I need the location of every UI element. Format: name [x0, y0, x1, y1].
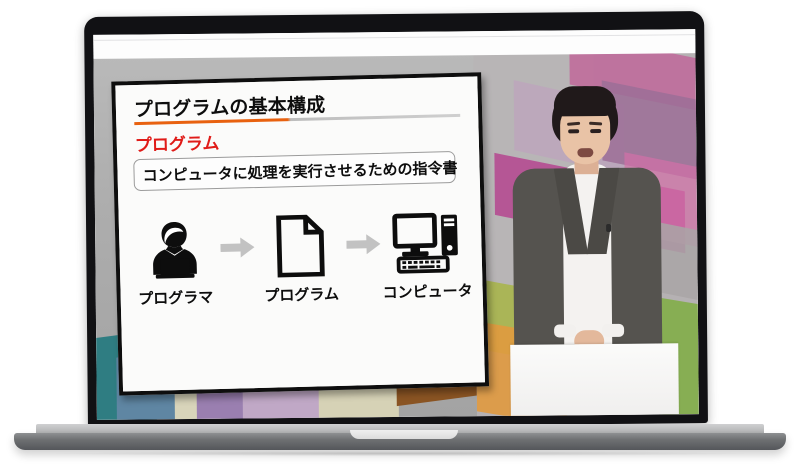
presenter-cuff-right	[602, 324, 624, 337]
laptop-base-shadow	[54, 451, 746, 456]
flow-node-programmer: プログラマ	[131, 211, 219, 309]
presenter-eye-left	[568, 129, 579, 133]
document-icon	[275, 208, 327, 283]
laptop-base-notch	[350, 430, 458, 439]
desktop-computer-icon	[391, 205, 461, 281]
programmer-icon	[143, 211, 207, 287]
presenter-stage	[473, 51, 698, 416]
flow-node-program: プログラム	[257, 208, 345, 306]
presenter-hair-fringe	[554, 86, 616, 117]
flow-label-programmer: プログラマ	[138, 286, 214, 309]
laptop-device: プログラムの基本構成 プログラム コンピュータに処理を実行させるための指令書	[0, 0, 800, 473]
definition-box: コンピュータに処理を実行させるための指令書	[133, 151, 456, 191]
flow-label-program: プログラム	[264, 283, 339, 306]
flow-label-computer: コンピュータ	[382, 280, 473, 303]
right-arrow-icon	[346, 234, 380, 255]
slide-panel: プログラムの基本構成 プログラム コンピュータに処理を実行させるための指令書	[111, 72, 489, 395]
presenter-eye-right	[590, 129, 601, 133]
right-arrow-icon	[220, 237, 254, 258]
flow-diagram: プログラマ	[127, 205, 476, 334]
screen-canvas: プログラムの基本構成 プログラム コンピュータに処理を実行させるための指令書	[93, 29, 699, 420]
flow-node-computer: コンピュータ	[382, 205, 470, 303]
flow-arrow-1	[217, 210, 259, 285]
definition-text: コンピュータに処理を実行させるための指令書	[134, 156, 457, 185]
slide-subtitle: プログラム	[134, 129, 219, 156]
screen-top-divider	[93, 34, 695, 41]
laptop-screen: プログラムの基本構成 プログラム コンピュータに処理を実行させるための指令書	[93, 29, 699, 420]
presenter-mouth	[577, 148, 593, 157]
slide-content: プログラムの基本構成 プログラム コンピュータに処理を実行させるための指令書	[115, 76, 485, 391]
laptop-lid: プログラムの基本構成 プログラム コンピュータに処理を実行させるための指令書	[84, 11, 708, 429]
laptop-base	[14, 424, 786, 454]
podium	[510, 343, 679, 416]
lapel-microphone-icon	[606, 224, 611, 232]
flow-arrow-2	[343, 207, 385, 282]
presenter-cuff-left	[554, 324, 576, 337]
